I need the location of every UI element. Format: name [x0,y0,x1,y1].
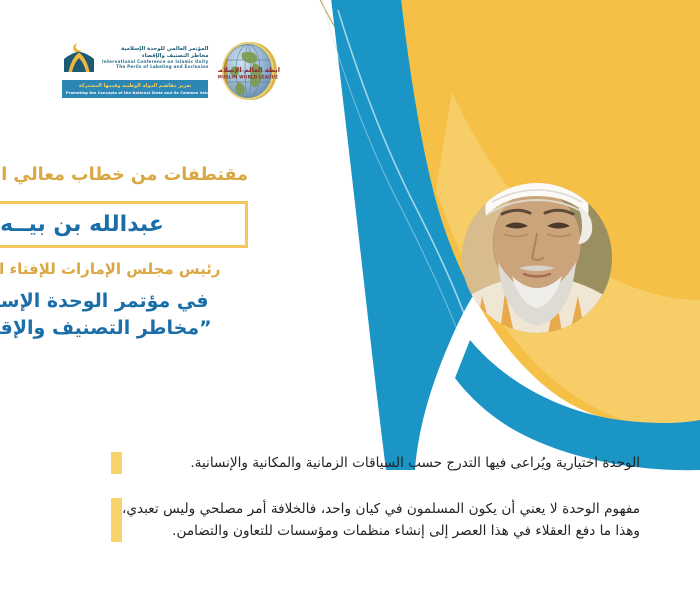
white-accent-line-2 [322,0,458,332]
mosque-dome-crescent-icon [62,42,96,74]
conference-logo-banner: تعزيز مفاهيم الدولة الوطنية وقيمها المشت… [62,80,208,98]
quote-accent-bar [111,498,122,542]
quote-item: مفهوم الوحدة لا يعني أن يكون المسلمون في… [95,498,640,542]
speaker-role: رئيس مجلس الإمارات للإفتاء الشرعي [0,260,248,278]
quote-text: مفهوم الوحدة لا يعني أن يكون المسلمون في… [122,498,640,542]
svg-text:رابطة العالم الإسلامي: رابطة العالم الإسلامي [218,66,280,74]
quote-accent-bar [111,452,122,474]
speaker-name-box: عبدالله بن بيــه [0,201,248,248]
yellow-swoosh-main [400,0,700,430]
conference-logo-english-line-2: The Perils of Labeling and Exclusion [102,65,209,70]
quote-item: الوحدة اختيارية ويُراعى فيها التدرج حسب … [95,452,640,474]
hero-kicker: مقتطفات من خطاب معالي الشيخ العلّامة [0,165,248,185]
conference-title-line-2: ”مخاطر التصنيف والإقصاء“ [0,317,248,339]
blue-swoosh-tail [455,340,700,470]
svg-text:MUSLIM WORLD LEAGUE: MUSLIM WORLD LEAGUE [218,75,278,80]
yellow-swoosh-light-overlay [436,92,700,432]
mwl-logo-wordmark: رابطة العالم الإسلامي MUSLIM WORLD LEAGU… [218,66,280,80]
quote-text: الوحدة اختيارية ويُراعى فيها التدرج حسب … [122,452,640,474]
portrait-sheikh-abdullah-bin-bayyah [462,164,612,333]
gold-hairline-arc [318,0,560,260]
header-logo-row: المؤتمر العالمي للوحدة الإسلامية مخاطر ا… [62,40,280,102]
blue-swoosh-large [330,0,700,470]
conference-banner-arabic: تعزيز مفاهيم الدولة الوطنية وقيمها المشت… [66,83,204,89]
conference-logo-text: المؤتمر العالمي للوحدة الإسلامية مخاطر ا… [102,46,209,69]
conference-banner-english: Promoting the Concepts of the National S… [66,91,204,95]
conference-logo: المؤتمر العالمي للوحدة الإسلامية مخاطر ا… [62,40,208,98]
white-accent-line [338,10,470,330]
muslim-world-league-logo: رابطة العالم الإسلامي MUSLIM WORLD LEAGU… [218,40,280,102]
quotes-section: الوحدة اختيارية ويُراعى فيها التدرج حسب … [95,452,640,566]
conference-title-line-1: في مؤتمر الوحدة الإسلامية [0,290,248,312]
quote-card: المؤتمر العالمي للوحدة الإسلامية مخاطر ا… [0,0,700,600]
speaker-name: عبدالله بن بيــه [0,212,164,237]
